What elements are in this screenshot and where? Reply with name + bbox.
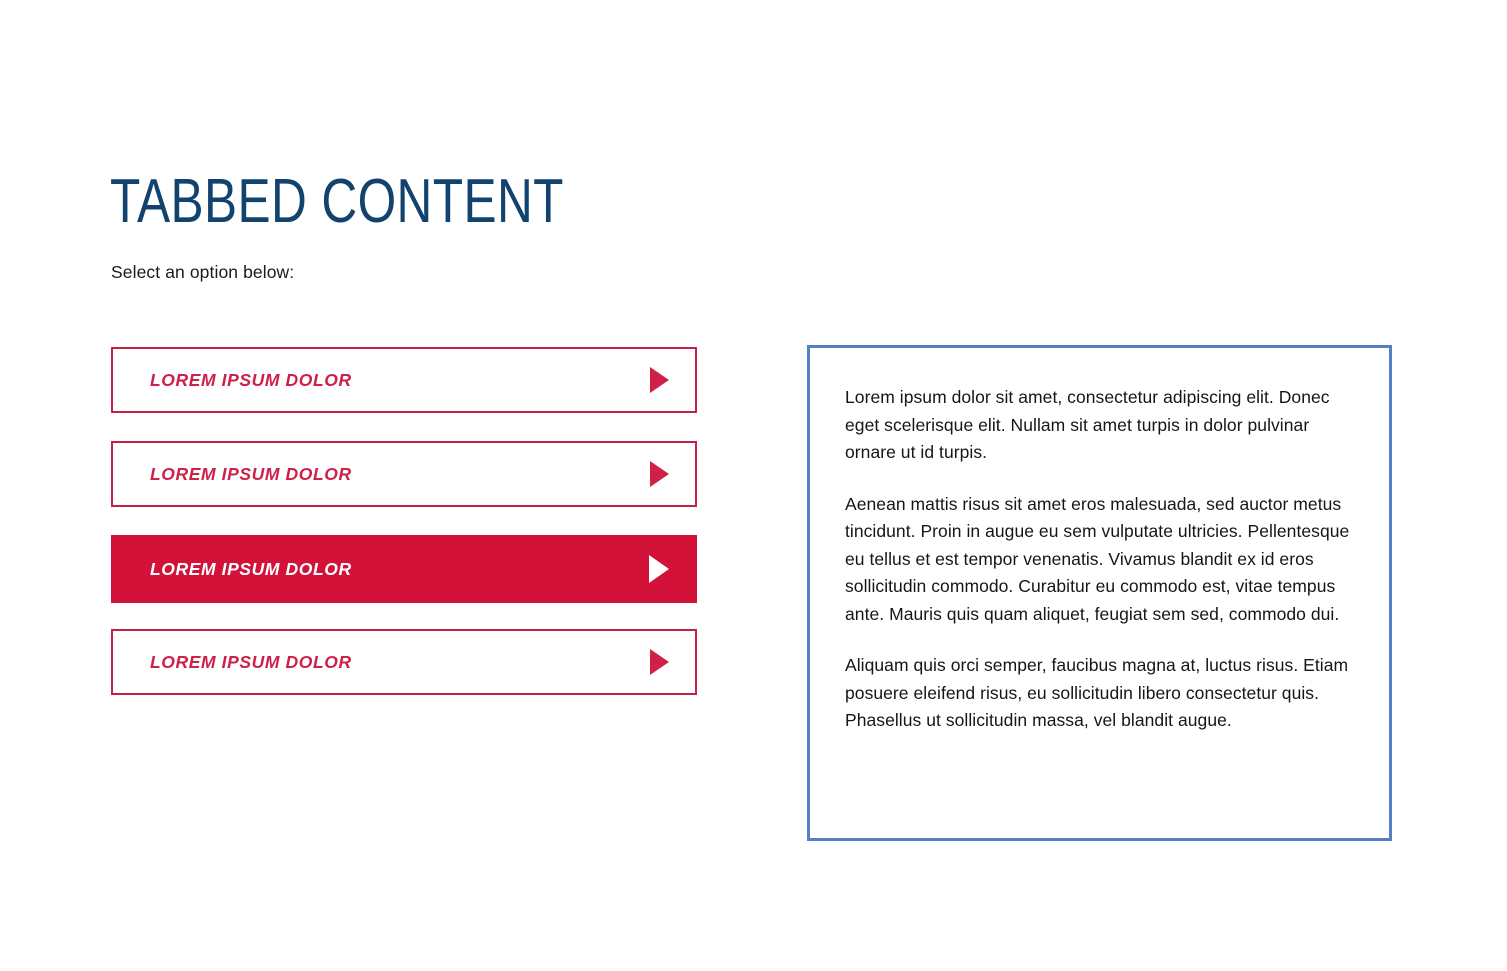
play-triangle-icon bbox=[649, 555, 669, 583]
content-paragraph-3: Aliquam quis orci semper, faucibus magna… bbox=[845, 652, 1361, 735]
tab-content-panel: Lorem ipsum dolor sit amet, consectetur … bbox=[807, 345, 1392, 841]
content-paragraph-1: Lorem ipsum dolor sit amet, consectetur … bbox=[845, 384, 1361, 467]
instruction-text: Select an option below: bbox=[111, 260, 294, 284]
slide-canvas: TABBED CONTENT Select an option below: L… bbox=[0, 0, 1507, 971]
tab-item-2-label: LOREM IPSUM DOLOR bbox=[150, 464, 352, 485]
tab-item-4[interactable]: LOREM IPSUM DOLOR bbox=[111, 629, 697, 695]
play-triangle-icon bbox=[650, 649, 669, 675]
tab-item-2[interactable]: LOREM IPSUM DOLOR bbox=[111, 441, 697, 507]
tab-item-3-label: LOREM IPSUM DOLOR bbox=[150, 559, 352, 580]
page-title: TABBED CONTENT bbox=[110, 166, 564, 238]
tab-item-3[interactable]: LOREM IPSUM DOLOR bbox=[111, 535, 697, 603]
play-triangle-icon bbox=[650, 461, 669, 487]
tab-item-1-label: LOREM IPSUM DOLOR bbox=[150, 370, 352, 391]
content-paragraph-2: Aenean mattis risus sit amet eros malesu… bbox=[845, 491, 1361, 629]
tab-list: LOREM IPSUM DOLOR LOREM IPSUM DOLOR LORE… bbox=[111, 347, 697, 723]
tab-item-4-label: LOREM IPSUM DOLOR bbox=[150, 652, 352, 673]
tab-item-1[interactable]: LOREM IPSUM DOLOR bbox=[111, 347, 697, 413]
play-triangle-icon bbox=[650, 367, 669, 393]
